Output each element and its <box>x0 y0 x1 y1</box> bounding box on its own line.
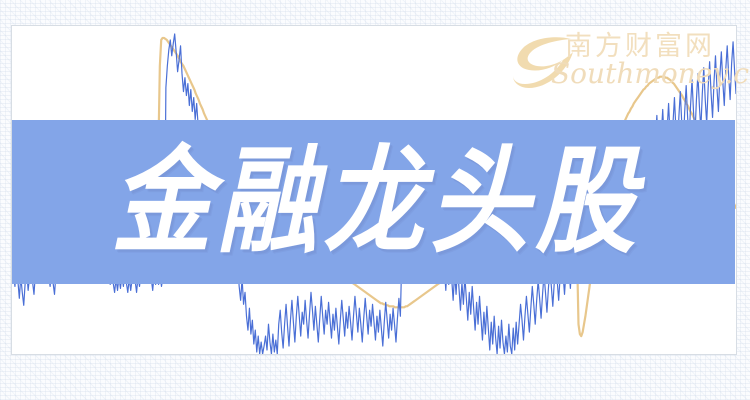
page-title: 金融龙头股 <box>106 144 642 260</box>
title-container: 金融龙头股 <box>12 120 735 284</box>
stock-banner: 金融龙头股 南方财富网 Southmoney.com <box>0 0 750 400</box>
